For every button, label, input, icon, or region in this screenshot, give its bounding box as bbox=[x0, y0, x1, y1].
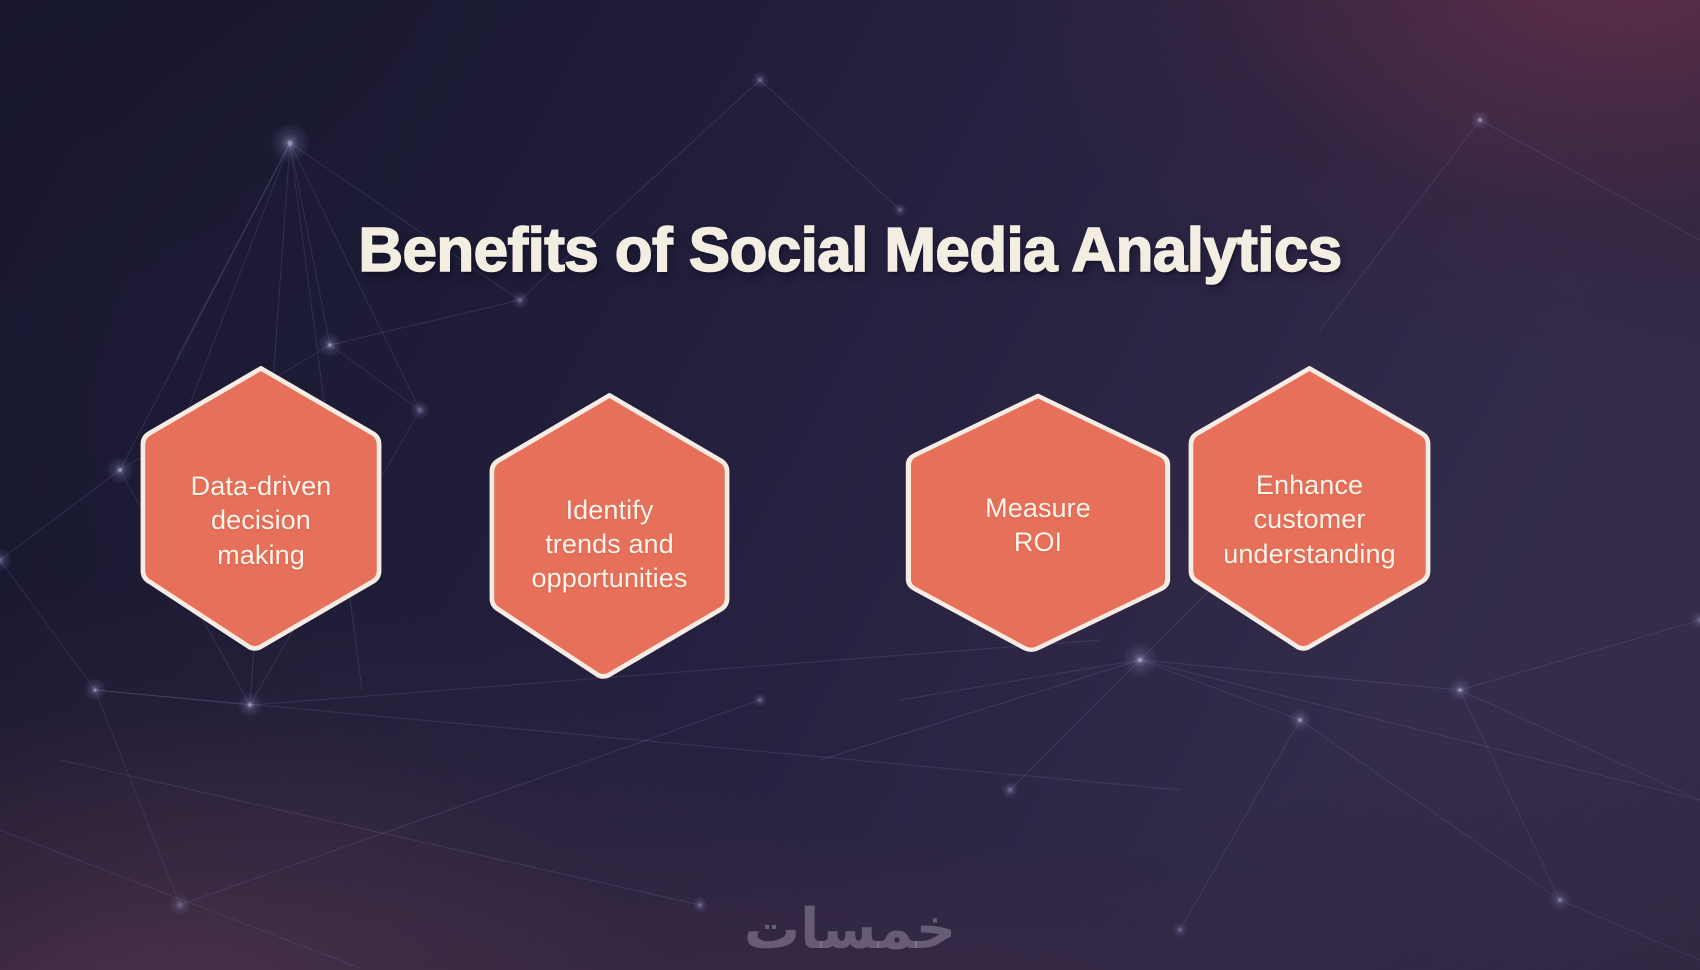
benefit-hexagon-enhance-customer-understanding[interactable]: Enhance customer understanding bbox=[1186, 363, 1433, 652]
benefit-line: Identify bbox=[532, 493, 688, 527]
benefit-line: Enhance bbox=[1223, 468, 1395, 502]
benefit-line: ROI bbox=[985, 525, 1091, 559]
benefit-line: Data-driven bbox=[191, 469, 332, 503]
benefit-hexagon-label: Enhance customer understanding bbox=[1215, 468, 1403, 570]
benefits-hexagon-row: Data-driven decision making Identify tre… bbox=[0, 0, 1700, 970]
benefit-line: Measure bbox=[985, 491, 1091, 525]
benefit-line: understanding bbox=[1223, 537, 1395, 571]
benefit-line: making bbox=[191, 538, 332, 572]
benefit-hexagon-label: Measure ROI bbox=[977, 491, 1099, 559]
benefit-hexagon-identify-trends-and-opportunities[interactable]: Identify trends and opportunities bbox=[487, 390, 732, 680]
benefit-line: trends and bbox=[532, 527, 688, 561]
benefit-line: opportunities bbox=[532, 561, 688, 595]
benefit-hexagon-label: Identify trends and opportunities bbox=[524, 493, 696, 595]
benefit-line: decision bbox=[191, 503, 332, 537]
benefit-hexagon-label: Data-driven decision making bbox=[183, 469, 340, 571]
watermark-khamsat: خمسات bbox=[0, 897, 1700, 962]
benefit-hexagon-data-driven-decision-making[interactable]: Data-driven decision making bbox=[138, 363, 384, 652]
slide-canvas: Benefits of Social Media Analytics Data-… bbox=[0, 0, 1700, 970]
benefit-hexagon-measure-roi[interactable]: Measure ROI bbox=[903, 391, 1173, 653]
benefit-line: customer bbox=[1223, 502, 1395, 536]
